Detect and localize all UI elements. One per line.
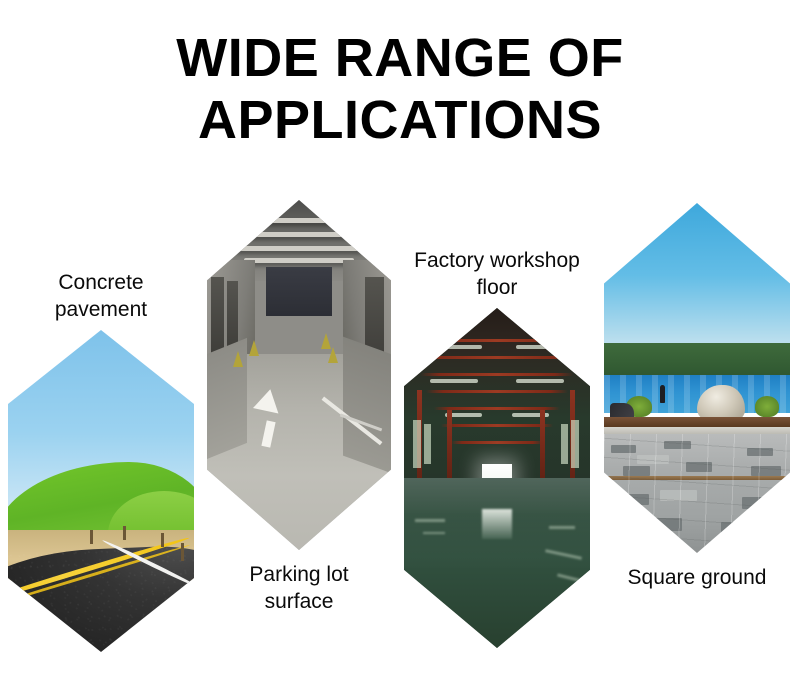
- pedestrian: [660, 385, 665, 403]
- scene-highway: [8, 330, 194, 652]
- card-image-square-ground: [604, 203, 790, 553]
- page-title-line-2: APPLICATIONS: [0, 90, 800, 152]
- card-label-factory-workshop: Factory workshop floor: [404, 248, 590, 302]
- roof-skylight: [516, 379, 564, 383]
- waterfront-railing: [604, 417, 790, 428]
- scene-parking-garage: [207, 200, 391, 550]
- ceiling-beam: [236, 246, 361, 251]
- roof-skylight: [423, 345, 483, 349]
- card-label-square-ground: Square ground: [604, 565, 790, 592]
- guide-post: [123, 526, 126, 540]
- roof-truss: [411, 339, 582, 342]
- roof-truss: [441, 424, 553, 427]
- traffic-cone: [328, 347, 338, 363]
- roof-truss: [415, 356, 579, 359]
- garage-door-panel: [211, 277, 224, 354]
- floor-gloss-sheen: [404, 478, 590, 648]
- sky: [604, 203, 790, 364]
- roof-skylight: [430, 379, 478, 383]
- asphalt-road: [8, 543, 194, 652]
- roof-truss: [421, 373, 574, 376]
- steel-column: [447, 410, 452, 485]
- garage-door-panel: [227, 281, 238, 351]
- application-card-square-ground: Square ground: [604, 203, 790, 553]
- card-image-factory-workshop: [404, 308, 590, 648]
- card-image-concrete-pavement: [8, 330, 194, 652]
- ceiling-beam: [229, 232, 369, 237]
- roof-skylight: [516, 345, 572, 349]
- ceiling-beam: [222, 218, 377, 223]
- scene-lakeside-plaza: [604, 203, 790, 553]
- paving-joint-grid: [604, 434, 790, 553]
- scene-warehouse: [404, 308, 590, 648]
- wall-window: [571, 420, 578, 468]
- card-label-concrete-pavement: Concrete pavement: [8, 270, 194, 324]
- roof-truss: [426, 390, 567, 393]
- card-label-parking-lot: Parking lot surface: [207, 562, 391, 616]
- guide-post: [181, 543, 184, 561]
- traffic-cone: [233, 351, 243, 367]
- application-card-concrete-pavement: Concrete pavement: [8, 330, 194, 652]
- card-image-parking-lot: [207, 200, 391, 550]
- wall-window: [424, 424, 431, 465]
- applications-poster: WIDE RANGE OF APPLICATIONS Concrete pave…: [0, 0, 800, 680]
- asphalt-texture: [8, 543, 194, 652]
- wall-window: [413, 420, 420, 468]
- garage-back-wall: [266, 267, 332, 316]
- application-card-parking-lot: Parking lot surface: [207, 200, 391, 550]
- guide-post: [90, 530, 93, 544]
- roof-truss: [451, 441, 544, 444]
- floor-edge-right: [343, 337, 391, 473]
- application-card-factory-workshop: Factory workshop floor: [404, 308, 590, 648]
- tree-line: [604, 343, 790, 378]
- wall-window: [561, 424, 568, 465]
- guide-post: [161, 533, 164, 547]
- traffic-cone: [249, 340, 259, 356]
- steel-column: [540, 410, 545, 485]
- shrub: [755, 396, 779, 417]
- page-title-line-1: WIDE RANGE OF: [0, 28, 800, 90]
- page-title: WIDE RANGE OF APPLICATIONS: [0, 28, 800, 151]
- ceiling-beam: [244, 258, 354, 263]
